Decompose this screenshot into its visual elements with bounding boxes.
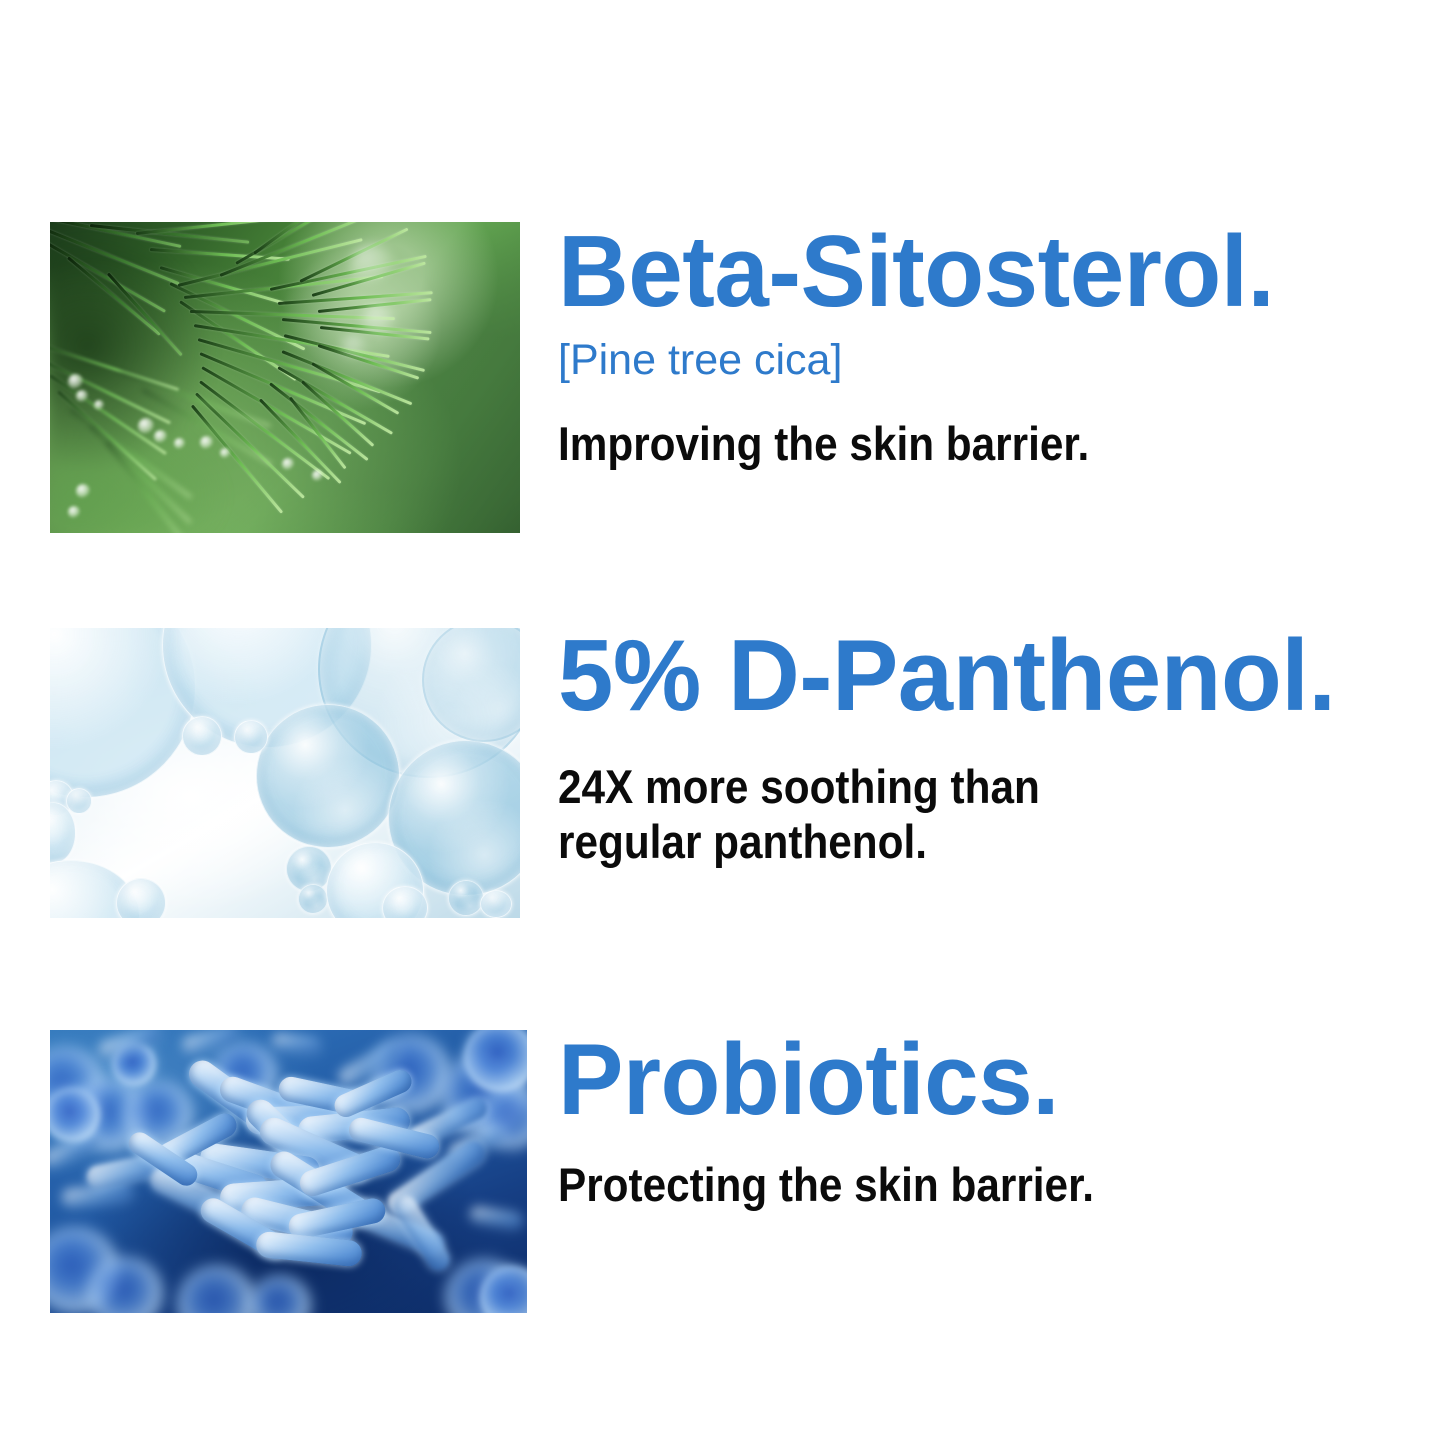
text-column-beta-sitosterol: Beta-Sitosterol. [Pine tree cica] Improv… xyxy=(558,222,1445,471)
ingredient-subtitle: [Pine tree cica] xyxy=(558,339,1445,382)
ingredient-section-probiotics: Probiotics. Protecting the skin barrier. xyxy=(0,1010,1445,1445)
ingredient-benefit-text: Improving the skin barrier. xyxy=(558,416,1356,471)
benefit-line-2: regular panthenol. xyxy=(558,815,927,868)
probiotic-bacteria-photo xyxy=(50,1030,527,1313)
ingredient-section-beta-sitosterol: Beta-Sitosterol. [Pine tree cica] Improv… xyxy=(0,0,1445,600)
ingredient-benefit-text: 24X more soothing than regular panthenol… xyxy=(558,759,1356,870)
pine-bokeh-blur xyxy=(50,222,520,533)
ingredient-heading: Beta-Sitosterol. xyxy=(558,222,1418,323)
ingredient-benefit-text: Protecting the skin barrier. xyxy=(558,1157,1356,1212)
ingredient-heading: 5% D-Panthenol. xyxy=(558,626,1432,727)
pine-tree-branch-photo xyxy=(50,222,520,533)
benefit-line-1: 24X more soothing than xyxy=(558,760,1040,813)
text-column-probiotics: Probiotics. Protecting the skin barrier. xyxy=(558,1030,1445,1212)
water-bubbles-photo xyxy=(50,628,520,918)
ingredient-section-d-panthenol: 5% D-Panthenol. 24X more soothing than r… xyxy=(0,600,1445,1010)
text-column-d-panthenol: 5% D-Panthenol. 24X more soothing than r… xyxy=(558,626,1445,870)
ingredient-heading: Probiotics. xyxy=(558,1030,1418,1131)
infographic-page: Beta-Sitosterol. [Pine tree cica] Improv… xyxy=(0,0,1445,1445)
